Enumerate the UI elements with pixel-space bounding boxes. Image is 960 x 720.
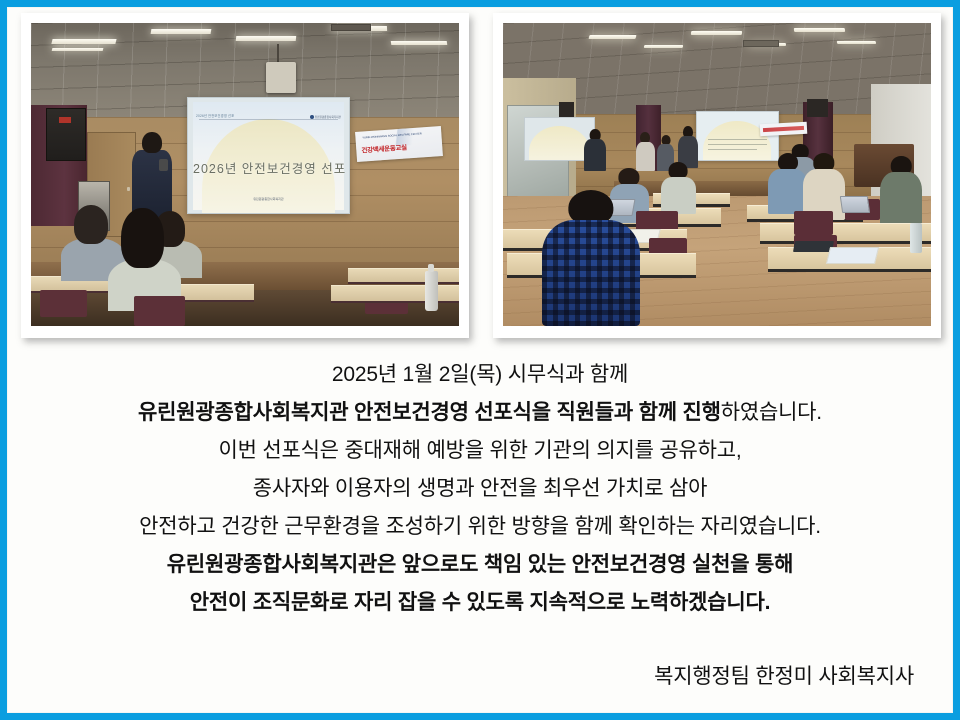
body-line-1: 2025년 1월 2일(목) 시무식과 함께 <box>8 356 952 394</box>
chair <box>40 290 87 317</box>
projection-screen <box>696 111 779 161</box>
person-torso <box>661 177 695 214</box>
ceiling-light <box>52 39 117 44</box>
audience-classroom-photo <box>503 23 931 326</box>
wall-speaker <box>46 108 87 162</box>
body-line-7: 안전이 조직문화로 자리 잡을 수 있도록 지속적으로 노력하겠습니다. <box>8 584 952 622</box>
body-line-4: 종사자와 이용자의 생명과 안전을 최우선 가치로 삼아 <box>8 470 952 508</box>
laptop <box>840 196 870 213</box>
chair <box>794 211 833 235</box>
presenter-declaration-photo: 2026년 안전보건경영 선포 유린원광종합사회복지관 2026년 안전보건경영… <box>31 23 459 326</box>
seated-person <box>661 162 695 214</box>
photo-frame-presenter: 2026년 안전보건경영 선포 유린원광종합사회복지관 2026년 안전보건경영… <box>21 13 469 338</box>
person-torso <box>768 169 807 214</box>
body-line-2: 유린원광종합사회복지관 안전보건경영 선포식을 직원들과 함께 진행하였습니다. <box>8 394 952 432</box>
air-vent <box>331 24 372 31</box>
desk <box>331 285 459 301</box>
attendee-head <box>121 208 164 269</box>
presentation-slide: 2026년 안전보건경영 선포 유린원광종합사회복지관 2026년 안전보건경영… <box>193 102 344 210</box>
slide-title: 2026년 안전보건경영 선포 <box>193 158 344 177</box>
ceiling-light <box>644 45 683 48</box>
standing-person <box>584 129 605 171</box>
attendee-head <box>74 205 108 244</box>
wall-banner <box>760 122 808 137</box>
slide-logo-text: 유린원광종합사회복지관 <box>315 115 341 119</box>
person-torso <box>636 142 655 172</box>
seated-person <box>803 153 846 220</box>
person-plaid-shirt <box>542 220 640 326</box>
author-signature: 복지행정팀 한정미 사회복지사 <box>654 660 914 690</box>
logo-mark-icon <box>310 115 314 119</box>
page-blue-border: 2026년 안전보건경영 선포 유린원광종합사회복지관 2026년 안전보건경영… <box>0 0 960 720</box>
body-line-2-normal: 하였습니다. <box>721 401 822 424</box>
foreground-attendee <box>542 190 640 326</box>
ceiling-light <box>588 35 636 39</box>
person-torso <box>880 172 923 229</box>
microphone <box>159 159 168 171</box>
projector <box>266 62 296 92</box>
chair <box>134 296 185 326</box>
banner-title: 건강백세운동교실 <box>361 141 407 154</box>
water-bottle <box>425 271 438 310</box>
seated-person <box>880 156 923 229</box>
seated-person <box>768 153 807 214</box>
page-content: 2026년 안전보건경영 선포 유린원광종합사회복지관 2026년 안전보건경영… <box>7 7 953 713</box>
ceiling-light <box>52 48 104 51</box>
water-bottle <box>910 223 923 253</box>
body-line-5: 안전하고 건강한 근무환경을 조성하기 위한 방향을 함께 확인하는 자리였습니… <box>8 508 952 546</box>
ceiling-light <box>837 41 876 44</box>
paper-document <box>826 247 879 264</box>
article-body: 2025년 1월 2일(목) 시무식과 함께 유린원광종합사회복지관 안전보건경… <box>8 356 952 622</box>
person-torso <box>584 139 605 171</box>
ceiling-light <box>691 31 743 35</box>
slide-logo: 유린원광종합사회복지관 <box>310 115 341 119</box>
standing-person <box>636 132 655 171</box>
banner-subtitle: YURIN WONKWANG SOCIAL WELFARE CENTER <box>362 132 422 139</box>
presenter-head <box>142 132 161 153</box>
photo-row: 2026년 안전보건경영 선포 유린원광종합사회복지관 2026년 안전보건경영… <box>21 13 941 343</box>
slide-text-line <box>708 144 767 145</box>
wall-banner: YURIN WONKWANG SOCIAL WELFARE CENTER 건강백… <box>355 126 442 162</box>
slide-text-line <box>708 149 757 150</box>
ceiling-light <box>794 28 846 32</box>
slide-footer: 유린원광종합사회복지관 <box>193 197 344 201</box>
desk <box>348 268 459 281</box>
slide-text-line <box>708 139 767 140</box>
ceiling-light <box>150 29 211 34</box>
air-vent <box>743 40 779 47</box>
notebook <box>793 241 833 252</box>
photo-frame-audience <box>493 13 941 338</box>
body-line-2-bold: 유린원광종합사회복지관 안전보건경영 선포식을 직원들과 함께 진행 <box>138 401 721 424</box>
projection-screen: 2026년 안전보건경영 선포 유린원광종합사회복지관 2026년 안전보건경영… <box>187 97 350 214</box>
desk <box>760 223 931 241</box>
slide-arc-graphic <box>529 126 589 161</box>
ceiling-light <box>236 36 296 41</box>
body-line-3: 이번 선포식은 중대재해 예방을 위한 기관의 의지를 공유하고, <box>8 432 952 470</box>
wall-speaker <box>807 99 828 117</box>
body-line-6: 유린원광종합사회복지관은 앞으로도 책임 있는 안전보건경영 실천을 통해 <box>8 546 952 584</box>
ceiling-light <box>390 41 446 45</box>
slide-header-text: 2026년 안전보건경영 선포 <box>196 113 234 118</box>
